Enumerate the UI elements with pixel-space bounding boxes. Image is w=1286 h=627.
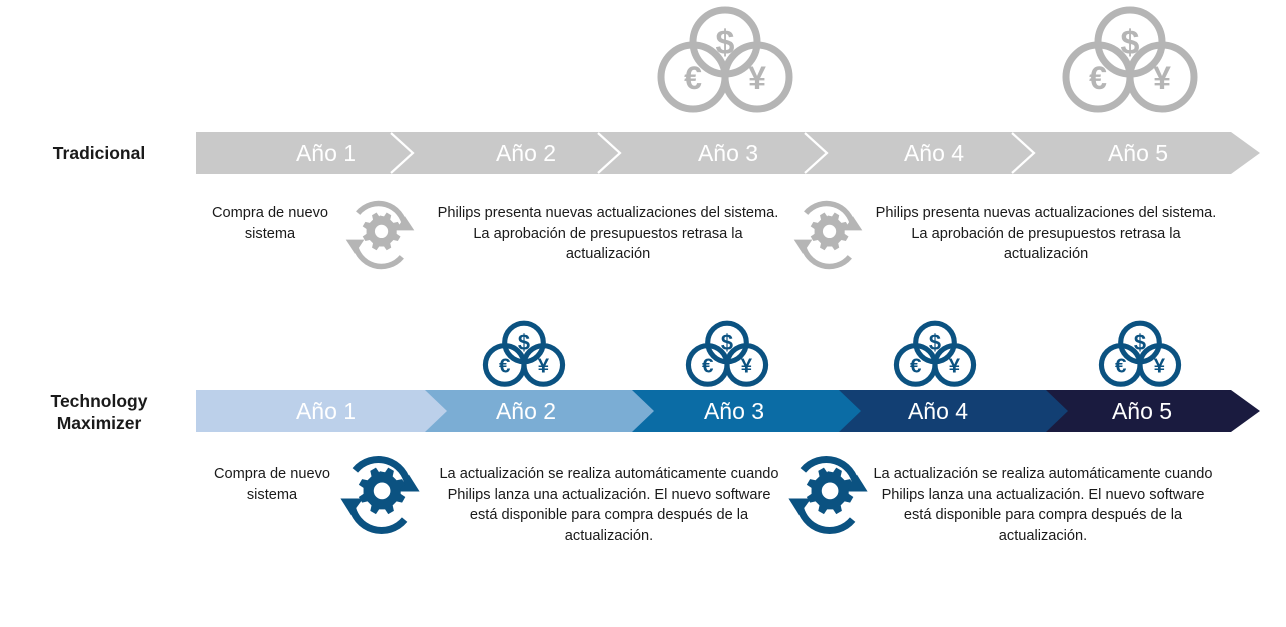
svg-text:$: $	[1134, 330, 1146, 355]
timeline-segment-maximizer-1	[196, 390, 447, 432]
svg-text:$: $	[716, 24, 735, 62]
svg-text:€: €	[499, 355, 511, 378]
timeline-tradicional: Año 1 Año 2 Año 3 Año 4 Año 5	[196, 132, 1260, 174]
money-coins-icon-gray-1: $ € ¥	[655, 4, 795, 121]
money-coins-icon-gray-2: $ € ¥	[1060, 4, 1200, 121]
timeline-band-tradicional	[196, 132, 1260, 174]
row-label-tradicional-text: Tradicional	[53, 143, 145, 163]
svg-text:€: €	[910, 355, 922, 378]
infographic-canvas: Tradicional Technology Maximizer $ € ¥	[0, 0, 1286, 627]
timeline-technology-maximizer: Año 1 Año 2 Año 3 Año 4 Año 5	[196, 390, 1260, 432]
description-maximizer-1: Compra de nuevo sistema	[198, 464, 346, 505]
svg-text:$: $	[929, 330, 941, 355]
svg-text:¥: ¥	[1153, 60, 1171, 96]
svg-text:$: $	[1121, 24, 1140, 62]
row-label-technology-maximizer-line1: Technology	[4, 391, 194, 413]
money-coins-icon-blue-3: $ € ¥	[889, 318, 981, 395]
svg-text:¥: ¥	[748, 60, 766, 96]
description-maximizer-3: La actualización se realiza automáticame…	[872, 464, 1214, 547]
svg-text:€: €	[702, 355, 714, 378]
svg-text:€: €	[684, 60, 702, 96]
gear-refresh-icon-blue-2	[784, 451, 872, 544]
svg-text:¥: ¥	[741, 355, 753, 378]
svg-text:$: $	[721, 330, 733, 355]
money-coins-icon-blue-2: $ € ¥	[681, 318, 773, 395]
gear-refresh-icon-gray-2	[789, 196, 867, 279]
description-tradicional-2: Philips presenta nuevas actualizaciones …	[432, 203, 784, 265]
money-coins-icon-blue-4: $ € ¥	[1094, 318, 1186, 395]
row-label-tradicional: Tradicional	[4, 143, 194, 165]
description-tradicional-3: Philips presenta nuevas actualizaciones …	[870, 203, 1222, 265]
svg-text:$: $	[518, 330, 530, 355]
money-coins-icon-blue-1: $ € ¥	[478, 318, 570, 395]
svg-text:¥: ¥	[538, 355, 550, 378]
row-label-technology-maximizer: Technology Maximizer	[4, 391, 194, 435]
description-tradicional-1: Compra de nuevo sistema	[196, 203, 344, 244]
svg-text:¥: ¥	[1154, 355, 1166, 378]
gear-refresh-icon-gray-1	[341, 196, 419, 279]
svg-text:€: €	[1089, 60, 1107, 96]
gear-refresh-icon-blue-1	[336, 451, 424, 544]
row-label-technology-maximizer-line2: Maximizer	[4, 413, 194, 435]
svg-text:¥: ¥	[949, 355, 961, 378]
svg-text:€: €	[1115, 355, 1127, 378]
description-maximizer-2: La actualización se realiza automáticame…	[438, 464, 780, 547]
